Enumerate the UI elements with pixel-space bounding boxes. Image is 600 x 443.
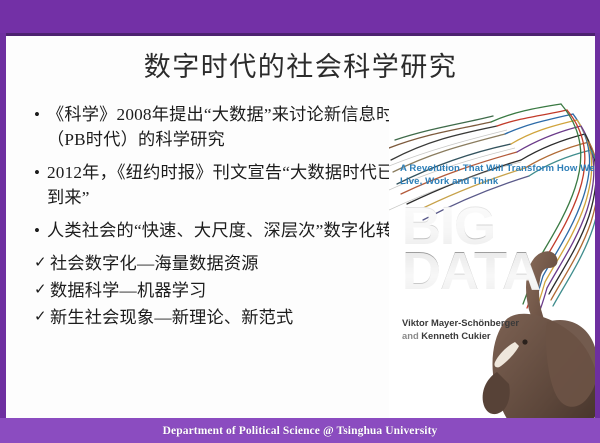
book-title: BIG DATA xyxy=(402,204,540,294)
list-item-text: 《科学》2008年提出“大数据”来讨论新信息时代（PB时代）的科学研究 xyxy=(47,102,414,152)
list-item: ✓ 数据科学—机器学习 xyxy=(34,278,414,303)
book-title-line-2: DATA xyxy=(402,249,540,294)
list-item: ✓ 社会数字化—海量数据资源 xyxy=(34,251,414,276)
checkmark-icon: ✓ xyxy=(34,251,50,276)
checkmark-icon: ✓ xyxy=(34,305,50,330)
right-purple-strip xyxy=(595,33,600,421)
book-author-1: Viktor Mayer-Schönberger xyxy=(402,316,519,329)
dot-bullet-icon: • xyxy=(34,218,47,243)
book-tagline: A Revolution That Will Transform How We … xyxy=(400,163,595,188)
book-author-2: Kenneth Cukier xyxy=(421,330,490,341)
checkmark-icon: ✓ xyxy=(34,278,50,303)
list-item-text: 数据科学—机器学习 xyxy=(50,278,207,303)
list-item: • 《科学》2008年提出“大数据”来讨论新信息时代（PB时代）的科学研究 xyxy=(34,102,414,152)
list-item: ✓ 新生社会现象—新理论、新范式 xyxy=(34,305,414,330)
slide-body: 数字时代的社会科学研究 • 《科学》2008年提出“大数据”来讨论新信息时代（P… xyxy=(6,36,595,418)
book-author-2-row: and Kenneth Cukier xyxy=(402,329,519,342)
list-item-text: 社会数字化—海量数据资源 xyxy=(50,251,259,276)
author-conjunction: and xyxy=(402,330,421,341)
header-bar xyxy=(0,0,600,33)
book-authors: Viktor Mayer-Schönberger and Kenneth Cuk… xyxy=(402,316,519,342)
dot-bullet-icon: • xyxy=(34,160,47,185)
list-item: • 人类社会的“快速、大尺度、深层次”数字化转型 xyxy=(34,218,414,243)
page-title: 数字时代的社会科学研究 xyxy=(6,45,595,84)
dot-bullet-icon: • xyxy=(34,102,47,127)
list-item-text: 2012年，《纽约时报》刊文宣告“大数据时代已经到来” xyxy=(47,160,414,210)
slide-canvas: 数字时代的社会科学研究 • 《科学》2008年提出“大数据”来讨论新信息时代（P… xyxy=(0,0,600,443)
footer-bar: Department of Political Science @ Tsingh… xyxy=(0,418,600,443)
list-item: • 2012年，《纽约时报》刊文宣告“大数据时代已经到来” xyxy=(34,160,414,210)
list-item-text: 人类社会的“快速、大尺度、深层次”数字化转型 xyxy=(47,218,410,243)
footer-text: Department of Political Science @ Tsingh… xyxy=(163,425,438,437)
big-data-book-cover-image: A Revolution That Will Transform How We … xyxy=(389,100,595,418)
list-item-text: 新生社会现象—新理论、新范式 xyxy=(50,305,293,330)
bullet-list: • 《科学》2008年提出“大数据”来讨论新信息时代（PB时代）的科学研究 • … xyxy=(34,102,414,332)
